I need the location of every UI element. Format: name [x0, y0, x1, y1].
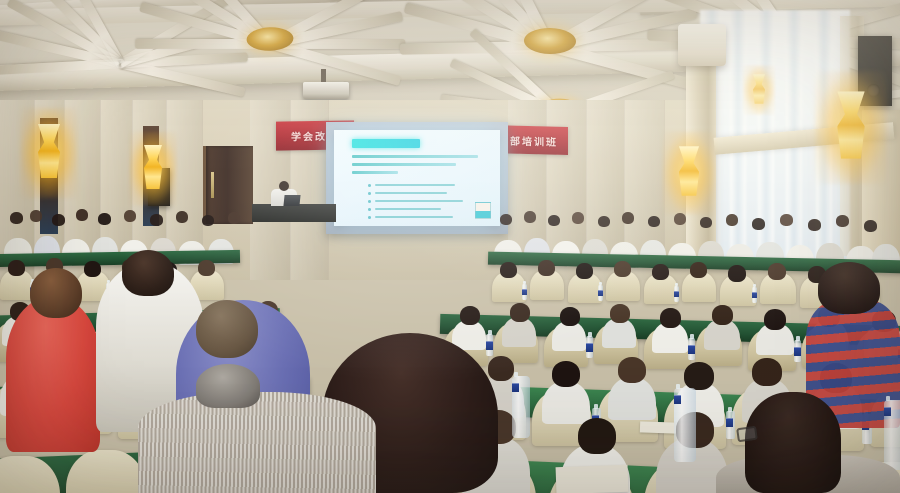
projector	[303, 82, 349, 99]
ceiling-starburst-panel	[133, 0, 407, 102]
person-striped-polo-head	[818, 262, 880, 314]
wall-sconce	[36, 122, 62, 180]
handout-paper	[556, 465, 629, 493]
person-red-top-head	[30, 268, 82, 318]
water-bottle	[512, 376, 530, 438]
wall-sconce	[835, 89, 868, 162]
water-bottle	[674, 388, 696, 462]
wall-sconce	[142, 143, 163, 191]
wall-sconce	[677, 144, 701, 197]
conference-hall-photo: 学会改革 干部培训班	[0, 0, 900, 493]
water-bottle	[884, 400, 900, 470]
eyeglasses	[736, 426, 758, 443]
person-red-top	[6, 296, 100, 452]
presenter-head	[279, 181, 289, 191]
person-foreground-right-head	[745, 392, 841, 493]
column-capital	[678, 24, 726, 66]
wall-sconce	[752, 73, 766, 105]
person-blue-polo-head	[196, 300, 258, 358]
ceiling-ornament	[524, 28, 576, 55]
person-white-shirt-head	[122, 250, 174, 296]
person-pinstripe-head	[196, 364, 260, 408]
slide-header-bar	[352, 139, 420, 148]
person-pinstripe	[138, 392, 376, 493]
